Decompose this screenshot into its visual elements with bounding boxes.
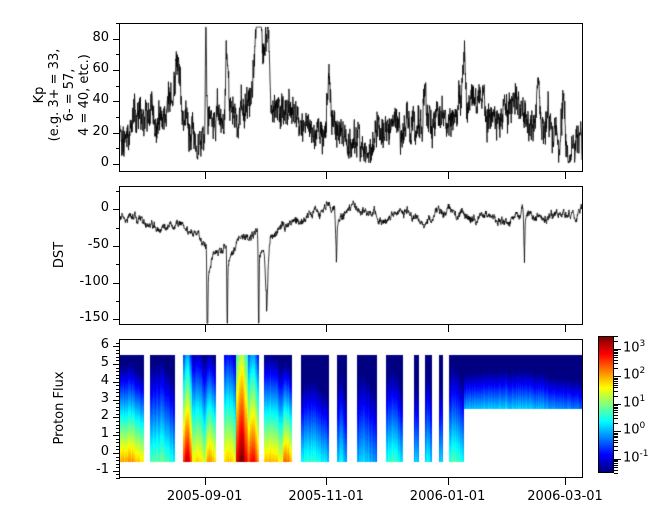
y-tick-major — [113, 133, 120, 134]
colorbar-tick-label: 103 — [623, 339, 645, 355]
x-tick-major — [565, 325, 566, 332]
y-tick-minor — [116, 428, 120, 429]
kp-axis-label-line: Kp — [32, 20, 47, 170]
y-tick-minor — [116, 54, 120, 55]
x-tick-major — [448, 325, 449, 332]
colorbar-tick-label: 10-1 — [623, 449, 649, 465]
y-tick-minor — [116, 148, 120, 149]
colorbar-tick-minor — [614, 434, 618, 435]
x-tick-major — [326, 172, 327, 179]
colorbar-tick-minor — [614, 410, 618, 411]
colorbar-tick-mantissa: 10 — [623, 395, 640, 410]
y-tick-major — [113, 319, 120, 320]
y-tick-label: 40 — [61, 92, 109, 107]
y-tick-minor — [116, 191, 120, 192]
y-tick-major — [113, 453, 120, 454]
colorbar-tick-minor — [614, 350, 618, 351]
x-tick-major — [326, 478, 327, 485]
colorbar-tick-minor — [614, 465, 618, 466]
colorbar-tick-minor — [614, 412, 618, 413]
colorbar-tick-exponent: 0 — [640, 421, 646, 431]
y-tick-minor — [116, 375, 120, 376]
colorbar-tick-minor — [614, 470, 618, 471]
y-tick-minor — [116, 378, 120, 379]
colorbar-tick-mantissa: 10 — [623, 368, 640, 383]
colorbar-tick-mantissa: 10 — [623, 450, 640, 465]
colorbar-tick-minor — [614, 363, 618, 364]
y-tick-minor — [116, 407, 120, 408]
y-tick-minor — [116, 432, 120, 433]
y-tick-minor — [116, 396, 120, 397]
y-tick-label: 60 — [61, 61, 109, 76]
y-tick-major — [113, 246, 120, 247]
colorbar-tick-minor — [614, 381, 618, 382]
y-tick-minor — [116, 460, 120, 461]
colorbar-tick-minor — [614, 385, 618, 386]
x-tick-label: 2005-11-01 — [271, 489, 381, 504]
y-tick-label: 4 — [61, 373, 109, 388]
colorbar-tick-minor — [614, 440, 618, 441]
colorbar-tick-minor — [614, 473, 618, 474]
y-tick-minor — [116, 421, 120, 422]
colorbar-tick-mantissa: 10 — [623, 340, 640, 355]
colorbar-tick-minor — [614, 387, 618, 388]
colorbar-tick-minor — [614, 360, 618, 361]
kp-axis-label-line: (e.g. 3+ = 33, — [47, 20, 62, 170]
y-tick-minor — [116, 389, 120, 390]
colorbar-tick-label: 101 — [623, 394, 645, 410]
colorbar-tick-minor — [614, 379, 618, 380]
y-tick-major — [113, 70, 120, 71]
x-tick-label: 2006-01-01 — [393, 489, 503, 504]
y-tick-label: 80 — [61, 30, 109, 45]
colorbar-tick-minor — [614, 460, 618, 461]
y-tick-minor — [116, 350, 120, 351]
colorbar-tick-mantissa: 10 — [623, 423, 640, 438]
y-tick-label: 5 — [61, 355, 109, 370]
y-tick-major — [113, 346, 120, 347]
colorbar-tick-exponent: 3 — [640, 339, 646, 349]
colorbar-tick-minor — [614, 391, 618, 392]
y-tick-label: 0 — [61, 444, 109, 459]
colorbar-tick-minor — [614, 396, 618, 397]
colorbar-tick-minor — [614, 355, 618, 356]
colorbar-tick-minor — [614, 433, 618, 434]
colorbar-tick-minor — [614, 378, 618, 379]
x-tick-label: 2005-09-01 — [150, 489, 260, 504]
x-tick-major — [326, 325, 327, 332]
y-tick-minor — [116, 464, 120, 465]
colorbar-tick-label: 100 — [623, 421, 645, 437]
x-tick-major — [448, 172, 449, 179]
y-tick-major — [113, 164, 120, 165]
colorbar-tick-minor — [614, 368, 618, 369]
y-tick-minor — [116, 301, 120, 302]
x-tick-major — [448, 478, 449, 485]
y-tick-minor — [116, 467, 120, 468]
colorbar-gradient — [599, 337, 613, 472]
y-tick-major — [113, 382, 120, 383]
colorbar-tick-major — [614, 431, 621, 432]
colorbar — [598, 336, 614, 473]
y-tick-label: 6 — [61, 337, 109, 352]
x-tick-major — [565, 172, 566, 179]
colorbar-tick-minor — [614, 436, 618, 437]
y-tick-major — [113, 283, 120, 284]
y-tick-minor — [116, 478, 120, 479]
y-tick-minor — [116, 228, 120, 229]
dst-line-canvas — [120, 187, 582, 324]
y-tick-label: 0 — [61, 155, 109, 170]
colorbar-tick-minor — [614, 357, 618, 358]
colorbar-tick-minor — [614, 352, 618, 353]
y-tick-minor — [116, 357, 120, 358]
y-tick-label: 1 — [61, 426, 109, 441]
y-tick-label: 2 — [61, 408, 109, 423]
y-tick-major — [113, 209, 120, 210]
y-tick-minor — [116, 353, 120, 354]
colorbar-tick-minor — [614, 423, 618, 424]
y-tick-minor — [116, 360, 120, 361]
colorbar-tick-minor — [614, 408, 618, 409]
y-tick-label: -1 — [61, 462, 109, 477]
kp-line-canvas — [120, 24, 582, 171]
colorbar-tick-minor — [614, 383, 618, 384]
colorbar-tick-exponent: -1 — [640, 449, 649, 459]
y-tick-minor — [116, 442, 120, 443]
y-tick-minor — [116, 343, 120, 344]
y-tick-minor — [116, 23, 120, 24]
y-tick-minor — [116, 425, 120, 426]
y-tick-minor — [116, 474, 120, 475]
y-tick-minor — [116, 414, 120, 415]
y-tick-minor — [116, 371, 120, 372]
colorbar-tick-exponent: 1 — [640, 394, 646, 404]
x-tick-major — [565, 478, 566, 485]
colorbar-tick-label: 102 — [623, 366, 645, 382]
proton-flux-heatmap-canvas — [120, 340, 582, 477]
x-tick-label: 2006-03-01 — [510, 489, 620, 504]
colorbar-tick-minor — [614, 418, 618, 419]
y-tick-major — [113, 364, 120, 365]
y-tick-major — [113, 400, 120, 401]
y-tick-minor — [116, 449, 120, 450]
colorbar-tick-minor — [614, 446, 618, 447]
x-tick-major — [205, 325, 206, 332]
colorbar-tick-exponent: 2 — [640, 366, 646, 376]
colorbar-tick-minor — [614, 336, 618, 337]
colorbar-tick-minor — [614, 467, 618, 468]
y-tick-major — [113, 39, 120, 40]
y-tick-minor — [116, 264, 120, 265]
y-tick-minor — [116, 439, 120, 440]
y-tick-minor — [116, 392, 120, 393]
y-tick-minor — [116, 117, 120, 118]
y-tick-label: 3 — [61, 391, 109, 406]
x-tick-major — [205, 478, 206, 485]
y-tick-label: 20 — [61, 124, 109, 139]
colorbar-tick-minor — [614, 461, 618, 462]
colorbar-tick-minor — [614, 463, 618, 464]
y-tick-major — [113, 471, 120, 472]
y-tick-label: -150 — [61, 310, 109, 325]
x-tick-major — [205, 172, 206, 179]
y-tick-major — [113, 417, 120, 418]
colorbar-tick-minor — [614, 341, 618, 342]
figure-root: Kp(e.g. 3+ = 33,6- = 57,4 = 40, etc.) 02… — [0, 0, 665, 523]
colorbar-tick-minor — [614, 415, 618, 416]
y-tick-label: 0 — [61, 200, 109, 215]
y-tick-major — [113, 101, 120, 102]
y-tick-label: -50 — [61, 237, 109, 252]
y-tick-minor — [116, 403, 120, 404]
colorbar-tick-minor — [614, 405, 618, 406]
y-tick-minor — [116, 368, 120, 369]
colorbar-tick-minor — [614, 407, 618, 408]
y-tick-label: -100 — [61, 274, 109, 289]
y-tick-minor — [116, 457, 120, 458]
y-tick-minor — [116, 410, 120, 411]
y-tick-minor — [116, 446, 120, 447]
y-tick-major — [113, 435, 120, 436]
colorbar-tick-major — [614, 376, 621, 377]
colorbar-tick-minor — [614, 437, 618, 438]
colorbar-tick-minor — [614, 442, 618, 443]
y-tick-minor — [116, 385, 120, 386]
y-tick-minor — [116, 86, 120, 87]
colorbar-tick-minor — [614, 353, 618, 354]
colorbar-tick-minor — [614, 450, 618, 451]
